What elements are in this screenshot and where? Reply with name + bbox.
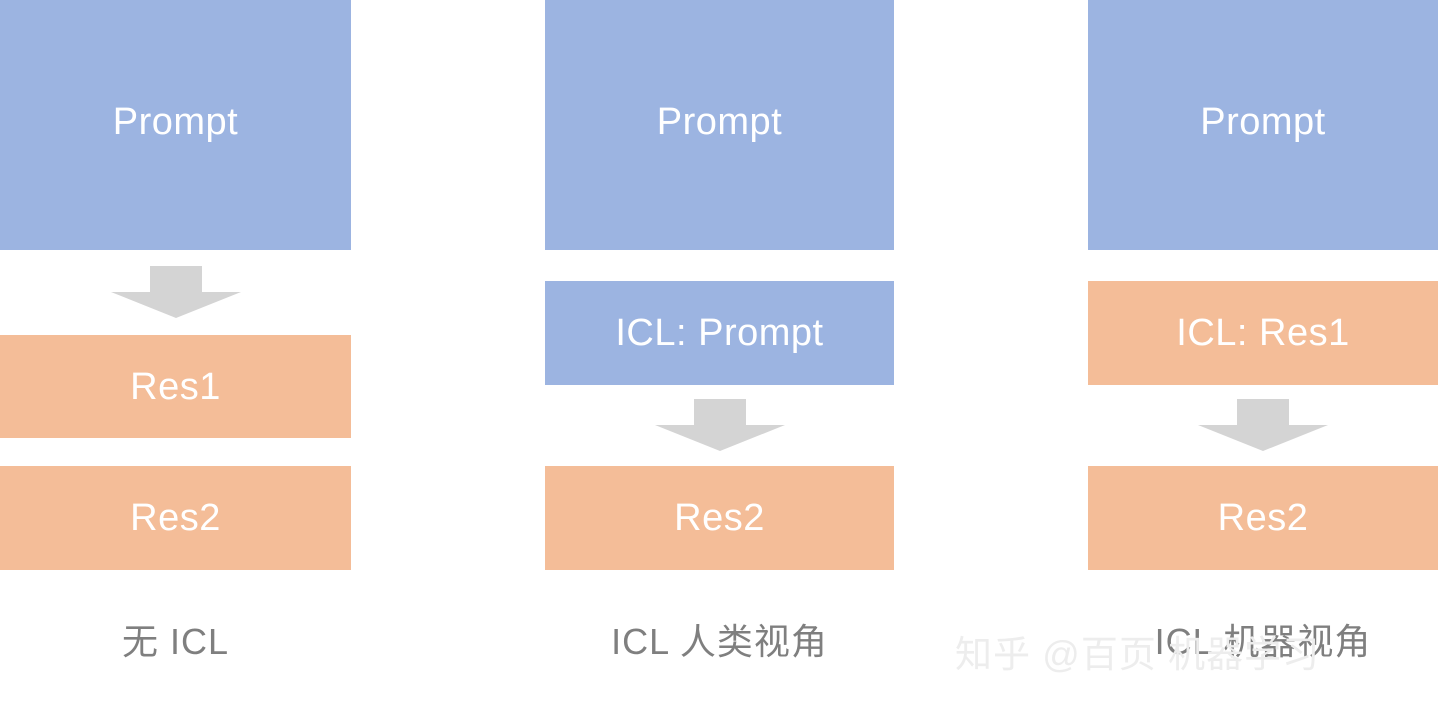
column-caption-icl-machine-view: ICL 机器视角 <box>1088 620 1438 663</box>
down-arrow-icon <box>655 399 785 451</box>
block-prompt: Prompt <box>545 0 894 250</box>
down-arrow-icon <box>111 266 241 318</box>
block-res1: Res1 <box>0 335 351 438</box>
block-icl-res1: ICL: Res1 <box>1088 281 1438 385</box>
column-caption-icl-human-view: ICL 人类视角 <box>545 620 894 663</box>
column-caption-no-icl: 无 ICL <box>0 620 351 663</box>
block-icl-prompt: ICL: Prompt <box>545 281 894 385</box>
block-prompt: Prompt <box>1088 0 1438 250</box>
diagram-column-icl-machine-view: Prompt ICL: Res1 Res2 ICL 机器视角 <box>1088 0 1438 707</box>
icl-comparison-diagram: Prompt Res1 Res2 无 ICL Prompt ICL: Promp… <box>0 0 1440 707</box>
block-res2: Res2 <box>1088 466 1438 570</box>
diagram-column-no-icl: Prompt Res1 Res2 无 ICL <box>0 0 351 707</box>
block-res2: Res2 <box>0 466 351 570</box>
block-prompt: Prompt <box>0 0 351 250</box>
down-arrow-icon <box>1198 399 1328 451</box>
diagram-column-icl-human-view: Prompt ICL: Prompt Res2 ICL 人类视角 <box>545 0 894 707</box>
block-res2: Res2 <box>545 466 894 570</box>
